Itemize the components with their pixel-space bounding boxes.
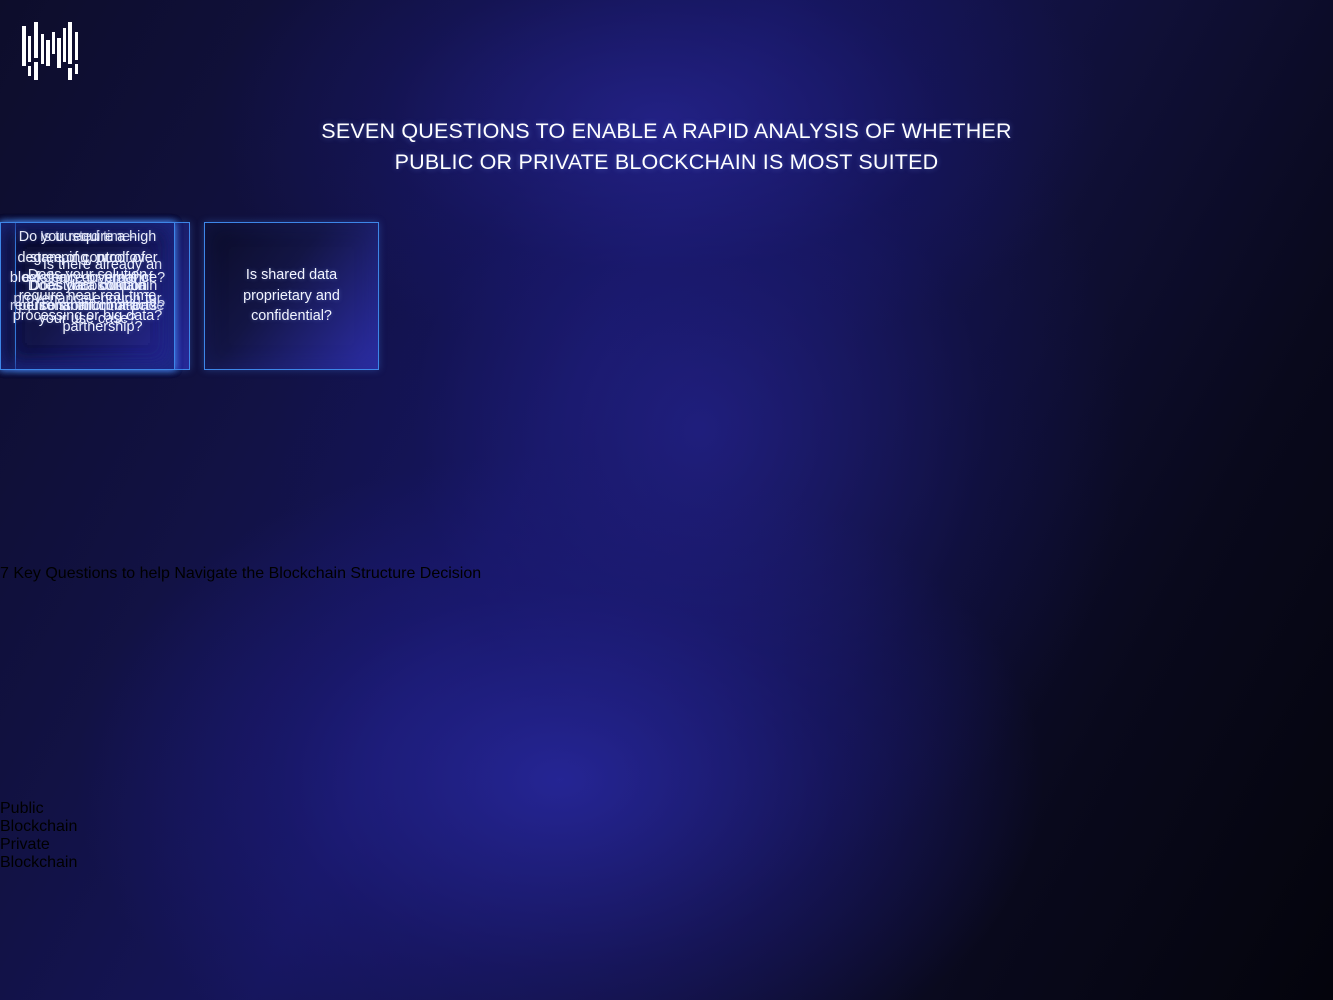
- connector-drop-4: [0, 210, 1333, 280]
- outcome-private-blockchain[interactable]: Private Blockchain: [0, 836, 1333, 872]
- connector-to-public: [0, 656, 1333, 728]
- question-text-7: Does data contain personal information?: [9, 276, 166, 317]
- center-node-text: 7 Key Questions to help Navigate the Blo…: [0, 565, 481, 582]
- question-box-2[interactable]: Is shared data proprietary and confident…: [204, 222, 379, 370]
- outcome-public-label: Public Blockchain: [0, 800, 77, 835]
- outcome-private-label: Private Blockchain: [0, 836, 77, 871]
- connector-drop-6: [0, 350, 1333, 420]
- page-title: SEVEN QUESTIONS TO ENABLE A RAPID ANALYS…: [0, 116, 1333, 178]
- question-text-2: Is shared data proprietary and confident…: [213, 265, 370, 327]
- connector-bus-to-center: [0, 490, 1333, 565]
- diagram-canvas: SEVEN QUESTIONS TO ENABLE A RAPID ANALYS…: [0, 0, 1333, 1000]
- center-node[interactable]: 7 Key Questions to help Navigate the Blo…: [0, 565, 1333, 583]
- connector-drop-5: [0, 280, 1333, 350]
- connector-drop-1: [0, 0, 1333, 70]
- outcome-public-blockchain[interactable]: Public Blockchain: [0, 800, 1333, 836]
- question-box-7[interactable]: Does data contain personal information?: [0, 222, 175, 370]
- connector-center-down: [0, 583, 1333, 656]
- connector-to-private: [0, 728, 1333, 800]
- connector-drop-7: [0, 420, 1333, 490]
- barcode-m-logo: [20, 22, 82, 80]
